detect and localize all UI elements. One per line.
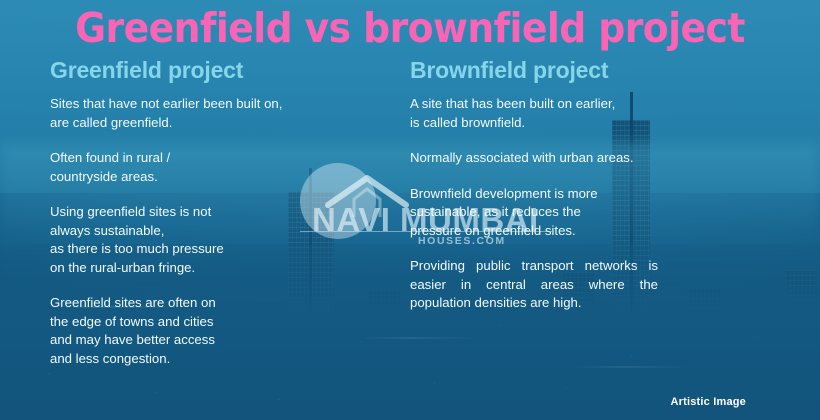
greenfield-paragraph-1: Sites that have not earlier been built o… — [50, 95, 350, 132]
slide-canvas: NAVI MUMBAI HOUSES.COM Greenfield vs bro… — [0, 0, 820, 420]
slide-content: Greenfield vs brownfield project Greenfi… — [0, 0, 820, 420]
image-credit: Artistic Image — [670, 396, 746, 408]
brownfield-paragraph-4: Providing public transport networks is e… — [410, 257, 658, 313]
greenfield-paragraph-3: Using greenfield sites is not always sus… — [50, 203, 350, 277]
brownfield-paragraph-2: Normally associated with urban areas. — [410, 149, 658, 168]
page-title: Greenfield vs brownfield project — [33, 4, 787, 52]
column-brownfield: Brownfield project A site that has been … — [410, 58, 658, 313]
greenfield-paragraph-4: Greenfield sites are often on the edge o… — [50, 294, 350, 368]
column-heading-brownfield: Brownfield project — [410, 58, 658, 83]
column-heading-greenfield: Greenfield project — [50, 58, 350, 83]
column-greenfield: Greenfield project Sites that have not e… — [50, 58, 350, 368]
brownfield-paragraph-3: Brownfield development is more sustainab… — [410, 185, 658, 241]
greenfield-paragraph-2: Often found in rural / countryside areas… — [50, 149, 350, 186]
brownfield-paragraph-1: A site that has been built on earlier, i… — [410, 95, 658, 132]
